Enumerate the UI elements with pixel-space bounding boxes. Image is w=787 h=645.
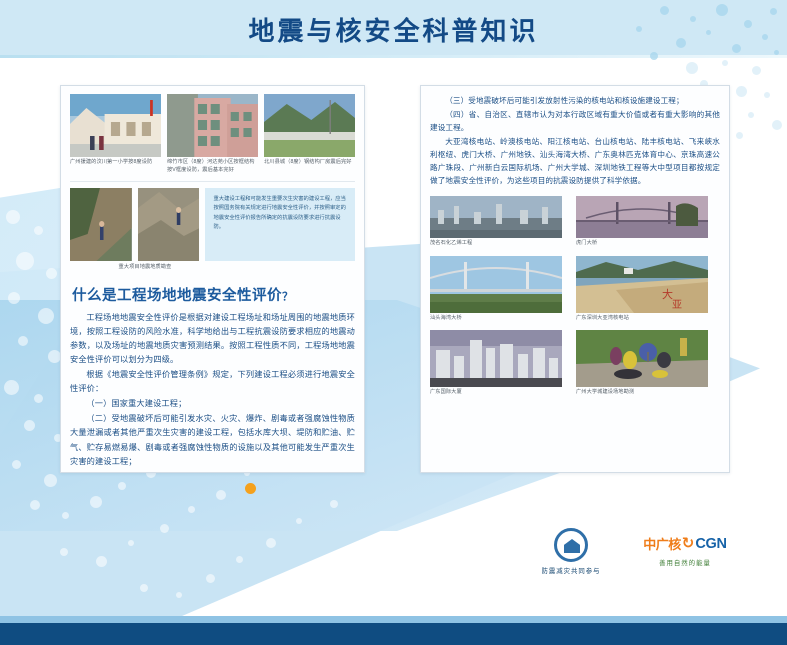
photo-shantou-bay-bridge — [430, 256, 562, 313]
right-photo-cell-4: 大 亚 广东深圳大亚湾核电站 — [576, 256, 708, 323]
bubble-decoration — [38, 308, 54, 324]
bubble-decoration — [44, 474, 57, 487]
bubble-decoration — [60, 548, 68, 556]
bubble-decoration — [34, 226, 43, 235]
bubble-decoration — [736, 86, 747, 97]
bubble-decoration — [96, 556, 107, 567]
right-content-card: （三）受地震破坏后可能引发放射性污染的核电站和核设施建设工程； （四）省、自治区… — [420, 85, 730, 473]
photo-geological-survey-2 — [138, 188, 200, 261]
orange-accent-dot — [245, 483, 256, 494]
bubble-decoration — [736, 132, 743, 139]
section-heading: 什么是工程场地地震安全性评价？ — [72, 284, 355, 305]
right-body-text: （三）受地震破坏后可能引发放射性污染的核电站和核设施建设工程； （四）省、自治区… — [430, 94, 720, 187]
cgn-swirl-icon: ↻ — [682, 536, 695, 551]
poster-root: 地震与核安全科普知识 — [0, 0, 787, 645]
photo-guangdong-intl-building — [430, 330, 562, 387]
bubble-decoration — [140, 584, 148, 592]
section-heading-text: 什么是工程场地地震安全性评价 — [72, 288, 282, 304]
left-photo-row-top: 广州援建的汶川第一小学按8度设防 — [70, 94, 355, 174]
header-accent-line — [0, 55, 787, 58]
logo-earthquake-prevention: 防震减灾共同参与 — [525, 528, 617, 575]
bubble-decoration — [90, 496, 102, 508]
photo-beichuan-plant — [264, 94, 355, 157]
callout-box: 重大建设工程和可能发生重要次生灾害的建设工程，应当按照国务院有关规定进行地震安全… — [205, 188, 355, 261]
cgn-english-name: CGN — [695, 536, 726, 552]
bubble-decoration — [4, 380, 19, 395]
bubble-decoration — [752, 66, 761, 75]
logo-caption: 善用自然的能量 — [625, 558, 745, 567]
left-photo-cell-5 — [138, 188, 200, 261]
bubble-decoration — [188, 506, 195, 513]
paragraph: 工程场地地震安全性评价是根据对建设工程场址和场址周围的地震地质环境，按照工程设防… — [70, 311, 355, 367]
footer-bar-light — [0, 616, 787, 623]
bubble-decoration — [6, 210, 20, 224]
page-title: 地震与核安全科普知识 — [0, 11, 787, 48]
bubble-decoration — [774, 50, 779, 55]
paragraph: （二）受地震破坏后可能引发水灾、火灾、爆炸、剧毒或者强腐蚀性物质大量泄漏或者其他… — [70, 412, 355, 468]
bubble-decoration — [206, 574, 215, 583]
photo-caption: 茂名石化乙烯工程 — [430, 240, 562, 248]
photo-caption: 广东国际大厦 — [430, 389, 562, 397]
right-photo-cell-2: 虎门大桥 — [576, 196, 708, 248]
bubble-decoration — [764, 92, 770, 98]
footer-logos: 防震减灾共同参与 中广核 ↻ CGN 善用自然的能量 — [525, 528, 745, 598]
paragraph: 大亚湾核电站、岭澳核电站、阳江核电站、台山核电站、陆丰核电站、飞来峡水利枢纽、虎… — [430, 135, 720, 187]
svg-text:亚: 亚 — [672, 300, 682, 311]
paragraph: （一）国家重大建设工程； — [70, 397, 355, 411]
left-content-card: 广州援建的汶川第一小学按8度设防 — [60, 85, 365, 473]
left-photo-cell-4 — [70, 188, 132, 261]
left-photo-row-bottom: 重大建设工程和可能发生重要次生灾害的建设工程，应当按照国务院有关规定进行地震安全… — [70, 188, 355, 261]
left-photo-cell-3: 北川县城（8度）钢结构厂房震后完好 — [264, 94, 355, 174]
photo-maoming-ethylene — [430, 196, 562, 238]
bubble-decoration — [722, 60, 728, 66]
photo-caption: 绵竹市区（8度）河达苑小区按框结构按V框度设防，震后基本完好 — [167, 159, 258, 174]
bubble-decoration — [236, 556, 243, 563]
paragraph: 根据《地震安全性评价管理条例》规定，下列建设工程必须进行地震安全性评价： — [70, 368, 355, 396]
bubble-decoration — [18, 336, 28, 346]
bubble-decoration — [24, 420, 35, 431]
photo-humen-bridge — [576, 196, 708, 238]
right-photo-cell-1: 茂名石化乙烯工程 — [430, 196, 562, 248]
photo-mianzhu-residential — [167, 94, 258, 157]
bubble-decoration — [118, 482, 126, 490]
bubble-decoration — [650, 52, 658, 60]
bubble-decoration — [772, 120, 782, 130]
photo-caption: 广东深圳大亚湾核电站 — [576, 315, 708, 323]
svg-text:大: 大 — [662, 287, 673, 301]
bubble-decoration — [686, 62, 698, 74]
left-body-text: 工程场地地震安全性评价是根据对建设工程场址和场址周围的地震地质环境，按照工程设防… — [70, 311, 355, 469]
question-mark: ？ — [282, 291, 294, 303]
photo-caption: 虎门大桥 — [576, 240, 708, 248]
right-photo-cell-6: 广州大学城建设场地勘测 — [576, 330, 708, 397]
bubble-decoration — [176, 592, 182, 598]
bubble-decoration — [748, 112, 754, 118]
bubble-decoration — [16, 252, 34, 270]
cgn-logo-row: 中广核 ↻ CGN — [625, 534, 745, 553]
left-photo-cell-2: 绵竹市区（8度）河达苑小区按框结构按V框度设防，震后基本完好 — [167, 94, 258, 174]
bubble-decoration — [62, 512, 69, 519]
photo-caption: 广州大学城建设场地勘测 — [576, 389, 708, 397]
photo-caption: 汕头海湾大桥 — [430, 315, 562, 323]
logo-caption: 防震减灾共同参与 — [525, 566, 617, 575]
bubble-decoration — [12, 460, 21, 469]
bubble-decoration — [330, 500, 338, 508]
footer-bar-dark — [0, 623, 787, 645]
right-photo-cell-5: 广东国际大厦 — [430, 330, 562, 397]
paragraph: （四）省、自治区、直辖市认为对本行政区域有重大价值或者有重大影响的其他建设工程。 — [430, 108, 720, 134]
bubble-decoration — [34, 394, 43, 403]
bubble-decoration — [296, 518, 302, 524]
divider — [70, 181, 355, 182]
photo-wenchuan-school — [70, 94, 161, 157]
bubble-decoration — [8, 292, 20, 304]
photo-caption: 北川县城（8度）钢结构厂房震后完好 — [264, 159, 355, 167]
bubble-decoration — [160, 524, 169, 533]
left-photo-cell-1: 广州援建的汶川第一小学按8度设防 — [70, 94, 161, 174]
right-photo-grid: 茂名石化乙烯工程 虎门大桥 — [430, 196, 720, 397]
bubble-decoration — [30, 500, 40, 510]
photo-daya-bay-npp: 大 亚 — [576, 256, 708, 313]
bottom-photo-caption: 重大项目地震地质勘查 — [70, 264, 220, 272]
bubble-decoration — [46, 268, 57, 279]
paragraph: （三）受地震破坏后可能引发放射性污染的核电站和核设施建设工程； — [430, 94, 720, 107]
bubble-decoration — [128, 540, 134, 546]
photo-geological-survey-1 — [70, 188, 132, 261]
photo-university-town-survey — [576, 330, 708, 387]
bubble-decoration — [266, 538, 276, 548]
earthquake-prevention-emblem — [554, 528, 588, 562]
cgn-chinese-name: 中广核 — [643, 534, 681, 553]
right-photo-cell-3: 汕头海湾大桥 — [430, 256, 562, 323]
logo-cgn: 中广核 ↻ CGN 善用自然的能量 — [625, 534, 745, 567]
bubble-decoration — [216, 490, 226, 500]
photo-caption: 广州援建的汶川第一小学按8度设防 — [70, 159, 161, 167]
